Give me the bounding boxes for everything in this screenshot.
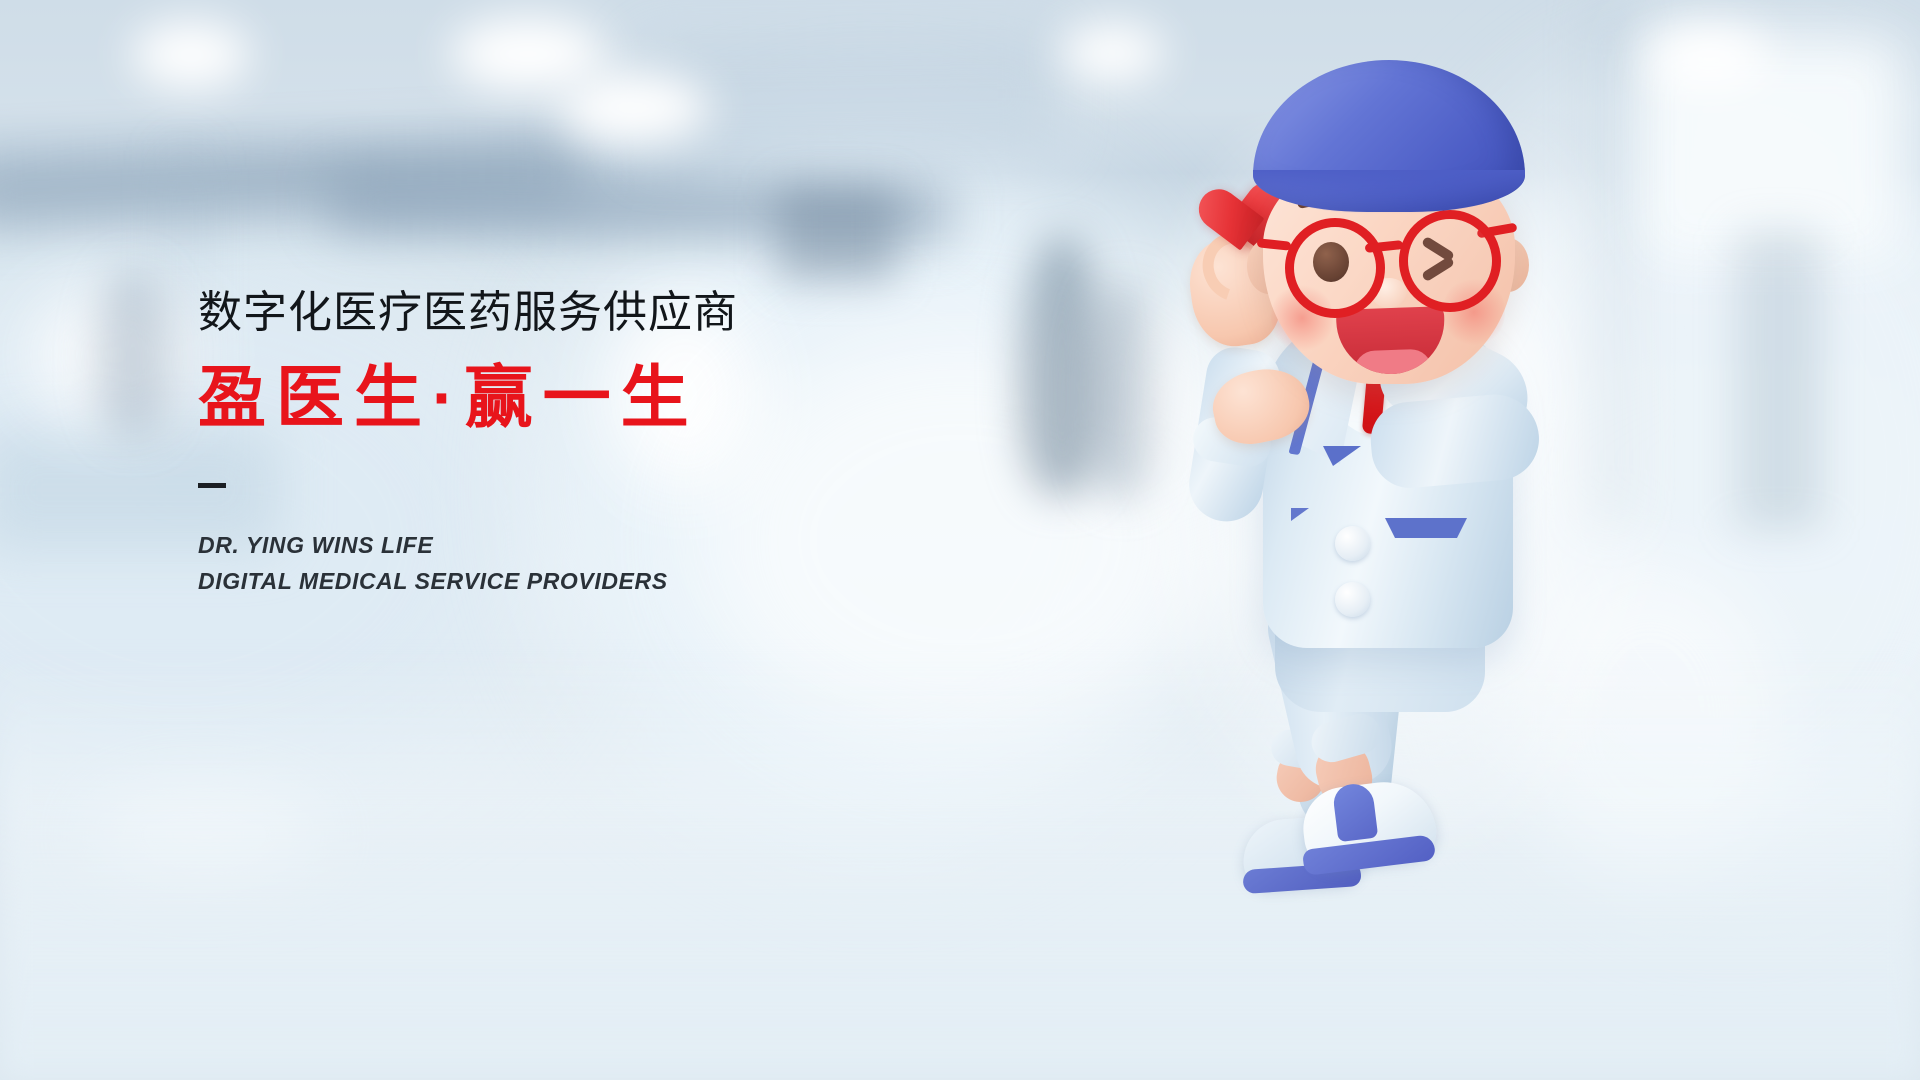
hero-subtitle: DR. YING WINS LIFE DIGITAL MEDICAL SERVI… (198, 528, 978, 599)
page-title: 数字化医疗医药服务供应商 (198, 288, 978, 339)
hero-banner: 数字化医疗医药服务供应商 盈医生·赢一生 DR. YING WINS LIFE … (0, 0, 1920, 1080)
hero-subtitle-line1: DR. YING WINS LIFE (198, 528, 978, 564)
hero-subtitle-line2: DIGITAL MEDICAL SERVICE PROVIDERS (198, 564, 978, 600)
hero-copy: 数字化医疗医药服务供应商 盈医生·赢一生 DR. YING WINS LIFE … (198, 288, 978, 600)
coat-triangle-accent (1323, 446, 1361, 466)
dr-ying-mascot (1185, 42, 1605, 872)
hero-slogan: 盈医生·赢一生 (198, 361, 978, 436)
glasses-lens-right (1399, 210, 1501, 312)
coat-pocket-flap (1385, 518, 1467, 538)
glasses-lens-left (1285, 218, 1385, 318)
tongue (1353, 349, 1432, 376)
arm-right-forearm (1368, 391, 1543, 491)
divider-rule (198, 483, 226, 488)
coat-side-accent (1291, 508, 1309, 521)
coat-button-bottom (1335, 582, 1370, 617)
coat-button-top (1335, 526, 1370, 561)
